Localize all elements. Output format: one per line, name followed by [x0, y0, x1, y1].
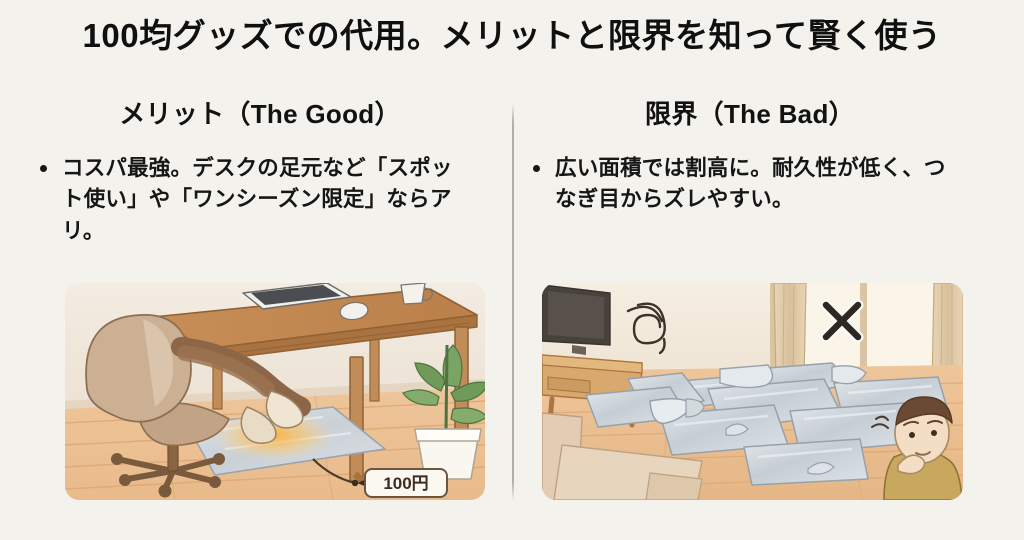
list-item-text: コスパ最強。デスクの足元など「スポット使い」や「ワンシーズン限定」ならアリ。 — [62, 156, 453, 244]
column-divider — [512, 103, 514, 501]
list-item: 広い面積では割高に。耐久性が低く、つなぎ目からズレやすい。 — [520, 153, 965, 217]
column-bad-bullet-list: 広い面積では割高に。耐久性が低く、つなぎ目からズレやすい。 — [520, 153, 980, 217]
living-room-misaligned-mats-illustration — [542, 283, 963, 500]
column-bad-heading: 限界（The Bad） — [520, 98, 980, 131]
column-good: メリット（The Good） コスパ最強。デスクの足元など「スポット使い」や「ワ… — [30, 98, 490, 248]
bullet-dot-icon — [40, 165, 47, 172]
column-good-heading: メリット（The Good） — [30, 98, 490, 131]
slide-root: 100均グッズでの代用。メリットと限界を知って賢く使う メリット（The Goo… — [0, 0, 1024, 540]
svg-text:100円: 100円 — [383, 474, 428, 493]
desk-foot-mat-illustration: 100円 — [65, 283, 485, 500]
column-bad: 限界（The Bad） 広い面積では割高に。耐久性が低く、つなぎ目からズレやすい… — [520, 98, 980, 216]
list-item: コスパ最強。デスクの足元など「スポット使い」や「ワンシーズン限定」ならアリ。 — [30, 153, 462, 248]
list-item-text: 広い面積では割高に。耐久性が低く、つなぎ目からズレやすい。 — [555, 156, 946, 212]
column-good-bullet-list: コスパ最強。デスクの足元など「スポット使い」や「ワンシーズン限定」ならアリ。 — [30, 153, 490, 248]
page-title: 100均グッズでの代用。メリットと限界を知って賢く使う — [0, 16, 1024, 56]
bullet-dot-icon — [533, 165, 540, 172]
